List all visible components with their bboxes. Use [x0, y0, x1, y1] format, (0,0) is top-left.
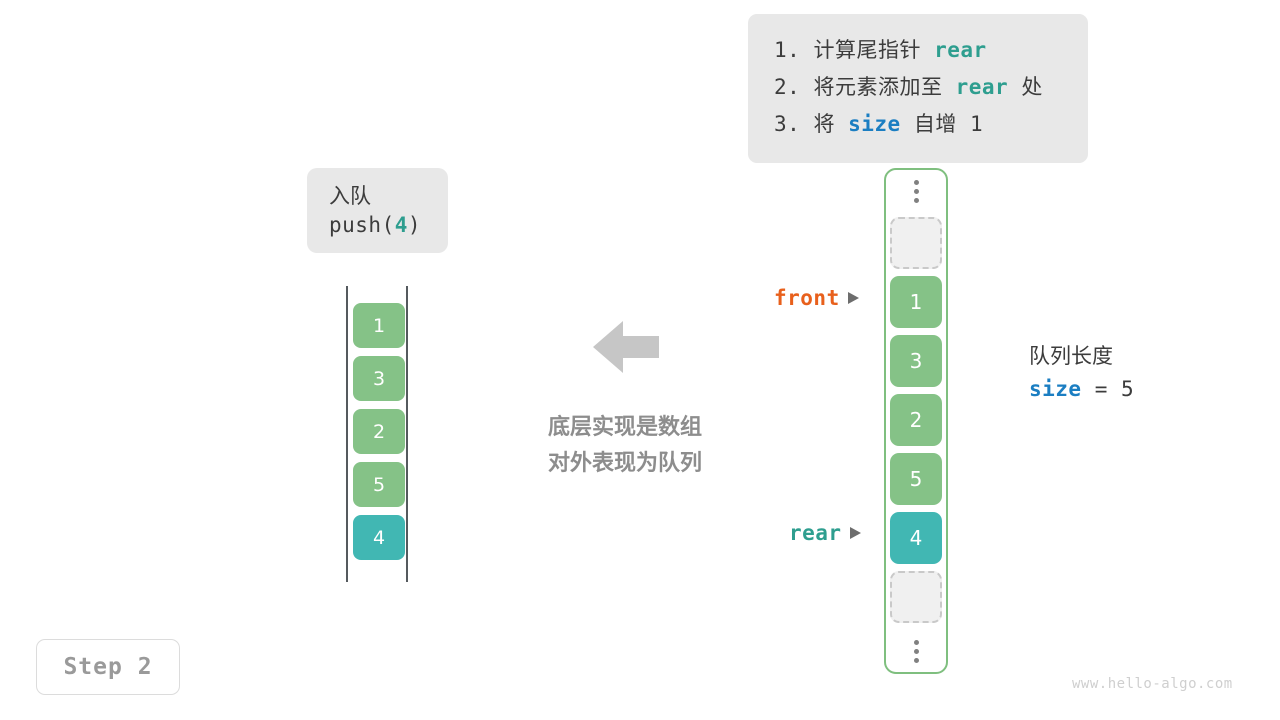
array-cell-empty — [890, 217, 942, 269]
instruction-1-number: 1. — [774, 38, 800, 62]
diagram-canvas: 1. 计算尾指针 rear 2. 将元素添加至 rear 处 3. 将 size… — [0, 0, 1280, 720]
instruction-2-number: 2. — [774, 75, 800, 99]
watermark: www.hello-algo.com — [1072, 676, 1233, 692]
array-top-ellipsis-icon — [914, 170, 919, 212]
array-cell-rear: 4 — [890, 512, 942, 564]
arrow-right-icon — [850, 527, 861, 539]
array-bottom-ellipsis-icon — [914, 630, 919, 672]
operation-title: 入队 — [329, 182, 448, 210]
operation-box: 入队 push(4) — [307, 168, 448, 253]
pointer-rear: rear — [789, 521, 861, 545]
left-arrow-icon — [593, 319, 659, 375]
operation-call-prefix: push( — [329, 213, 395, 237]
array-cell-empty — [890, 571, 942, 623]
caption-line-2: 对外表现为队列 — [500, 446, 750, 482]
queue-cell: 3 — [353, 356, 405, 401]
pointer-front-label: front — [774, 286, 840, 310]
instruction-2-text-after: 处 — [1008, 75, 1043, 99]
arrow-right-icon — [848, 292, 859, 304]
instruction-box: 1. 计算尾指针 rear 2. 将元素添加至 rear 处 3. 将 size… — [748, 14, 1088, 163]
queue-rail-left — [346, 286, 348, 582]
queue-cell-new: 4 — [353, 515, 405, 560]
operation-call: push(4) — [329, 210, 448, 240]
size-expression: size = 5 — [1029, 372, 1134, 406]
size-title: 队列长度 — [1029, 340, 1134, 372]
queue-cell: 5 — [353, 462, 405, 507]
instruction-3-text-before: 将 — [813, 112, 848, 136]
instruction-3-keyword: size — [848, 112, 901, 136]
instruction-1-keyword: rear — [934, 38, 987, 62]
queue-abstract-view: 1 3 2 5 4 — [340, 286, 415, 582]
operation-call-value: 4 — [395, 213, 408, 237]
step-badge: Step 2 — [36, 639, 180, 695]
caption-line-1: 底层实现是数组 — [500, 410, 750, 446]
array-concrete-view: 1 3 2 5 4 — [884, 168, 948, 674]
array-cell-front: 1 — [890, 276, 942, 328]
array-cell: 5 — [890, 453, 942, 505]
queue-cell-list: 1 3 2 5 4 — [353, 303, 405, 568]
instruction-3-text-after: 自增 1 — [901, 112, 983, 136]
instruction-line-1: 1. 计算尾指针 rear — [774, 32, 1062, 69]
array-cell: 3 — [890, 335, 942, 387]
size-equals: = — [1082, 377, 1121, 401]
instruction-line-3: 3. 将 size 自增 1 — [774, 106, 1062, 143]
size-value: 5 — [1121, 377, 1134, 401]
queue-cell: 1 — [353, 303, 405, 348]
instruction-1-text-before: 计算尾指针 — [813, 38, 934, 62]
pointer-front: front — [774, 286, 859, 310]
queue-cell: 2 — [353, 409, 405, 454]
array-cell: 2 — [890, 394, 942, 446]
operation-call-suffix: ) — [408, 213, 421, 237]
instruction-2-text-before: 将元素添加至 — [813, 75, 955, 99]
size-var-name: size — [1029, 377, 1082, 401]
queue-rail-right — [406, 286, 408, 582]
size-annotation: 队列长度 size = 5 — [1029, 340, 1134, 406]
center-caption: 底层实现是数组 对外表现为队列 — [500, 410, 750, 482]
instruction-line-2: 2. 将元素添加至 rear 处 — [774, 69, 1062, 106]
instruction-2-keyword: rear — [956, 75, 1009, 99]
instruction-3-number: 3. — [774, 112, 800, 136]
pointer-rear-label: rear — [789, 521, 842, 545]
